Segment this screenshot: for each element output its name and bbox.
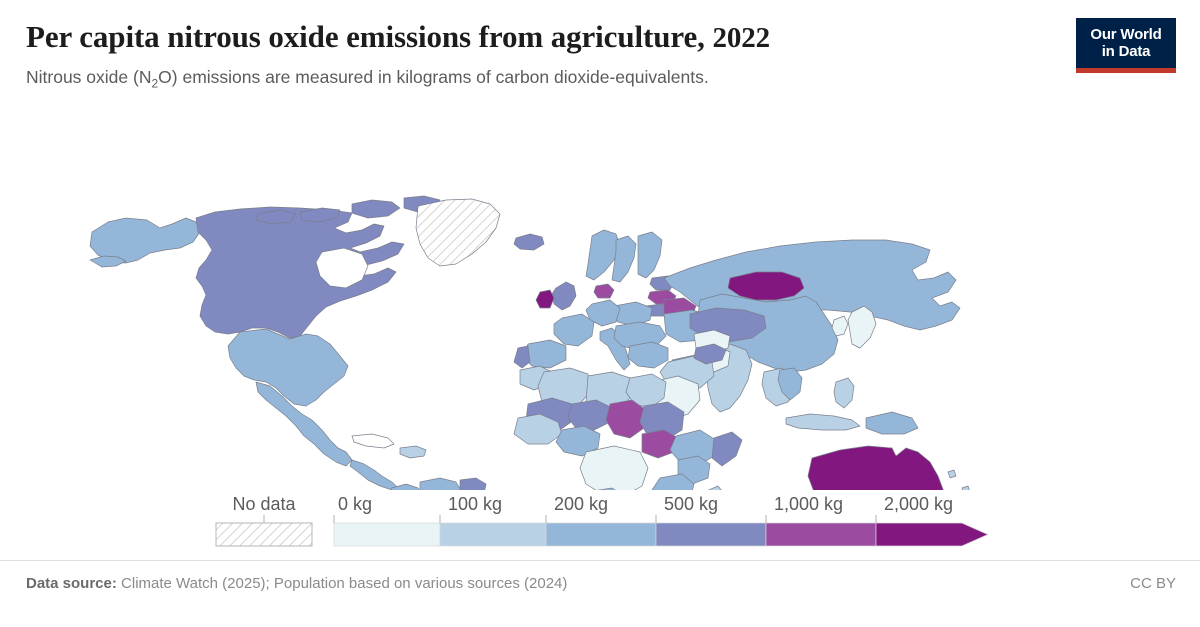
legend-bin-5[interactable] (876, 523, 988, 546)
country-balkans[interactable] (628, 342, 668, 368)
country-france[interactable] (554, 314, 594, 346)
logo-line-2: in Data (1102, 43, 1151, 60)
country-dr-congo[interactable] (580, 446, 648, 490)
country-korea[interactable] (832, 316, 848, 336)
chart-header: Per capita nitrous oxide emissions from … (0, 0, 1200, 104)
legend-tick-label-5: 2,000 kg (884, 494, 953, 514)
country-somalia[interactable] (712, 432, 742, 466)
data-source: Data source: Climate Watch (2025); Popul… (26, 575, 567, 592)
legend-bin-2[interactable] (546, 523, 656, 546)
license-label[interactable]: CC BY (1130, 575, 1176, 592)
our-world-in-data-logo[interactable]: Our World in Data (1076, 18, 1176, 73)
country-niger[interactable] (568, 400, 612, 430)
logo-line-1: Our World (1090, 26, 1161, 43)
chart-footer: Data source: Climate Watch (2025); Popul… (0, 560, 1200, 627)
legend-ticks (334, 515, 876, 523)
country-canada[interactable] (196, 207, 404, 338)
country-central-america[interactable] (350, 460, 398, 490)
country-chad[interactable] (606, 400, 646, 438)
country-papua-new-guinea[interactable] (866, 412, 918, 434)
legend-tick-label-2: 200 kg (554, 494, 608, 514)
page-title-year: 2022 (712, 22, 770, 54)
country-portugal[interactable] (514, 346, 530, 368)
legend-bin-3[interactable] (656, 523, 766, 546)
country-mongolia[interactable] (728, 272, 804, 300)
legend-bin-0[interactable] (334, 523, 440, 546)
legend-tick-label-1: 100 kg (448, 494, 502, 514)
world-choropleth-map[interactable] (0, 100, 1200, 490)
country-iceland[interactable] (514, 234, 544, 250)
country-australia[interactable] (808, 446, 944, 490)
page-title-text: Per capita nitrous oxide emissions from … (26, 19, 705, 54)
country-finland[interactable] (638, 232, 662, 278)
subtitle-part-2: O) emissions are measured in kilograms o… (158, 67, 709, 87)
country-ireland[interactable] (536, 290, 554, 308)
country-philippines[interactable] (834, 378, 854, 408)
legend-no-data-label: No data (232, 494, 296, 514)
country-united-states[interactable] (228, 329, 348, 406)
page-subtitle: Nitrous oxide (N2O) emissions are measur… (26, 65, 1176, 89)
country-japan[interactable] (848, 306, 876, 348)
country-indonesia[interactable] (786, 414, 860, 430)
legend-tick-label-4: 1,000 kg (774, 494, 843, 514)
country-united-kingdom[interactable] (552, 282, 576, 310)
legend-tick-label-0: 0 kg (338, 494, 372, 514)
page-title: Per capita nitrous oxide emissions from … (26, 18, 1176, 57)
country-cuba[interactable] (352, 434, 394, 448)
country-greenland[interactable] (416, 199, 500, 266)
legend-color-bins[interactable] (334, 523, 988, 546)
legend-no-data-swatch[interactable] (216, 523, 312, 546)
data-source-label: Data source: (26, 575, 117, 592)
subtitle-part-1: Nitrous oxide (N (26, 67, 151, 87)
legend-tick-label-3: 500 kg (664, 494, 718, 514)
map-legend[interactable]: No data 0 kg 100 kg 200 kg 500 kg 1,000 … (0, 488, 1200, 550)
legend-bin-1[interactable] (440, 523, 546, 546)
map-country-shapes (90, 196, 970, 490)
data-source-value[interactable]: Climate Watch (2025); Population based o… (121, 575, 567, 592)
country-hispaniola[interactable] (400, 446, 426, 458)
country-denmark[interactable] (594, 284, 614, 298)
legend-bin-4[interactable] (766, 523, 876, 546)
